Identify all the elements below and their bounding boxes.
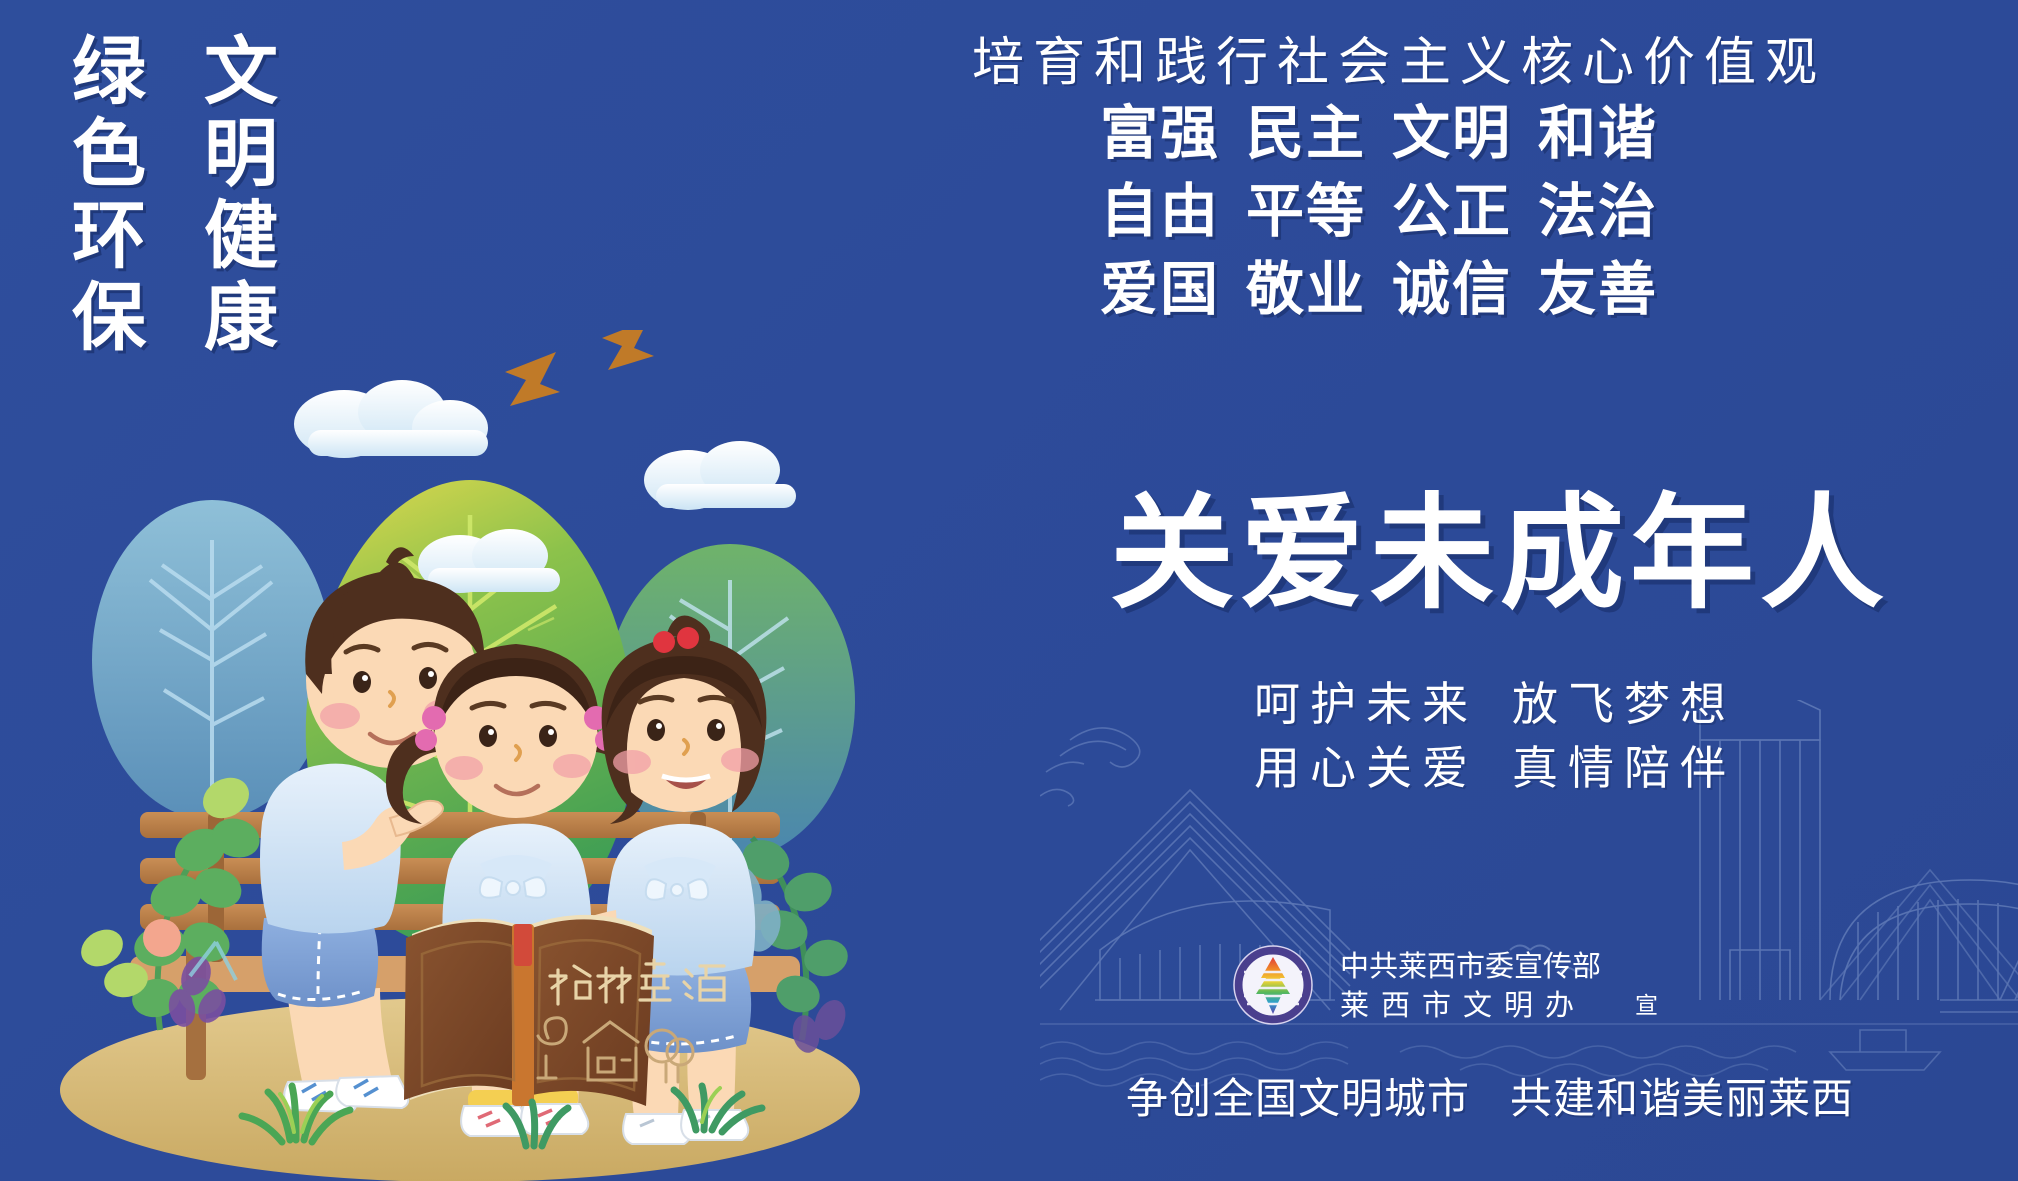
value-word: 敬业 xyxy=(1246,250,1366,328)
bottom-slogan-left: 争创全国文明城市 xyxy=(1126,1074,1470,1123)
sub-slogan-right: 真情陪伴 xyxy=(1512,741,1736,795)
value-word: 法治 xyxy=(1538,172,1658,250)
value-word: 公正 xyxy=(1392,172,1512,250)
slogan-char: 明 xyxy=(204,116,278,192)
value-word: 文明 xyxy=(1392,94,1512,172)
slogan-column-2: 文 明 健 康 xyxy=(204,34,278,356)
org-line-1: 中共莱西市委宣传部 xyxy=(1340,948,1601,984)
value-word: 民主 xyxy=(1246,94,1366,172)
value-word: 爱国 xyxy=(1100,250,1220,328)
slogan-char: 健 xyxy=(204,198,278,274)
bottom-slogan: 争创全国文明城市共建和谐美丽莱西 xyxy=(1060,1072,1920,1126)
value-word: 和谐 xyxy=(1538,94,1658,172)
laixi-city-emblem-icon xyxy=(1232,944,1314,1026)
slogan-column-1: 绿 色 环 保 xyxy=(72,34,146,356)
org-suffix-xuan: 宣 xyxy=(1635,992,1658,1020)
value-word: 自由 xyxy=(1100,172,1220,250)
sub-slogan-row-2: 用心关爱真情陪伴 xyxy=(1100,736,1880,800)
slogan-char: 色 xyxy=(72,116,146,192)
poster-canvas: 绿 色 环 保 文 明 健 康 培育和践行社会主义核心价值观 富强民主文明和谐 … xyxy=(0,0,2018,1181)
core-values-row-3: 爱国敬业诚信友善 xyxy=(820,250,1960,328)
main-headline: 关爱未成年人 xyxy=(1020,485,1980,623)
value-word: 诚信 xyxy=(1392,250,1512,328)
value-word: 平等 xyxy=(1246,172,1366,250)
slogan-char: 绿 xyxy=(72,34,146,110)
slogan-char: 文 xyxy=(204,34,278,110)
value-word: 富强 xyxy=(1100,94,1220,172)
value-word: 友善 xyxy=(1538,250,1658,328)
core-values-row-2: 自由平等公正法治 xyxy=(820,172,1960,250)
sub-slogan-left: 呵护未来 xyxy=(1254,677,1478,731)
bottom-slogan-right: 共建和谐美丽莱西 xyxy=(1510,1074,1854,1123)
sub-slogan-left: 用心关爱 xyxy=(1254,741,1478,795)
core-values-heading: 培育和践行社会主义核心价值观 xyxy=(820,32,1960,94)
sub-slogan-block: 呵护未来放飞梦想 用心关爱真情陪伴 xyxy=(1100,672,1880,800)
children-reading-illustration xyxy=(40,330,920,1181)
slogan-char: 环 xyxy=(72,198,146,274)
left-vertical-slogan: 绿 色 环 保 文 明 健 康 xyxy=(72,34,278,356)
core-values-row-1: 富强民主文明和谐 xyxy=(820,94,1960,172)
org-line-2: 莱西市文明办 xyxy=(1340,987,1601,1023)
sub-slogan-row-1: 呵护未来放飞梦想 xyxy=(1100,672,1880,736)
sub-slogan-right: 放飞梦想 xyxy=(1512,677,1736,731)
core-values-block: 培育和践行社会主义核心价值观 富强民主文明和谐 自由平等公正法治 爱国敬业诚信友… xyxy=(820,32,1960,328)
organization-credit-row: 中共莱西市委宣传部 莱西市文明办 宣 xyxy=(1232,944,1658,1026)
organization-names: 中共莱西市委宣传部 莱西市文明办 xyxy=(1340,948,1601,1023)
